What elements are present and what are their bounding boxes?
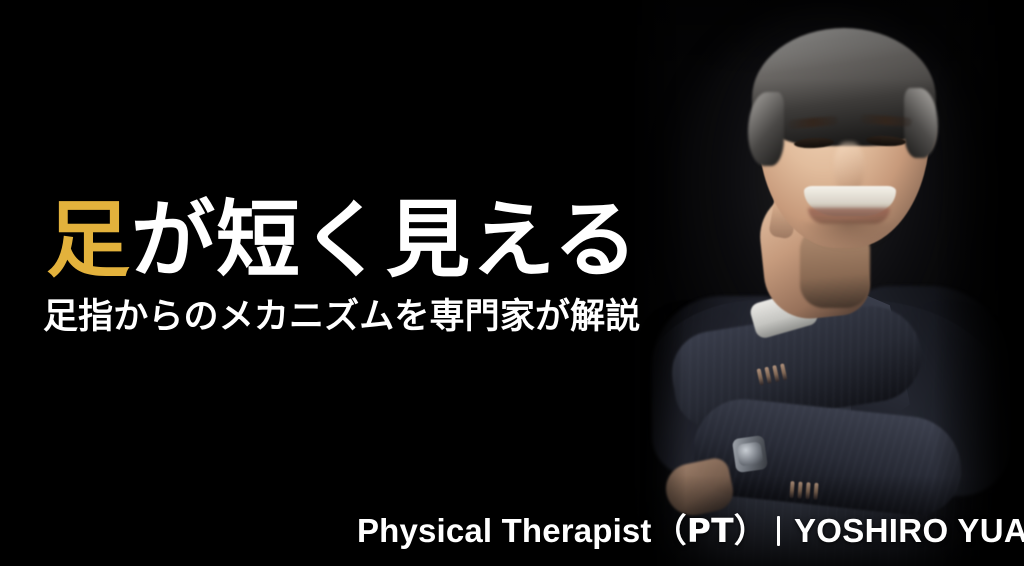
headline-accent-text: 足 [46, 191, 131, 289]
headline-rest-text: が短く見える [131, 191, 639, 289]
portrait-background [612, 0, 1024, 566]
sleeve-cuff-buttons-lower [789, 481, 818, 500]
credit-name: YOSHIRO YUASA [794, 512, 1024, 550]
chin-shadow [800, 222, 896, 250]
portrait-photo [612, 0, 1024, 566]
credit-role: Physical Therapist [357, 512, 652, 550]
headline: 足が短く見える [46, 198, 639, 282]
wristwatch-face [737, 441, 764, 466]
subheadline: 足指からのメカニズムを専門家が解説 [43, 300, 640, 335]
credit-abbreviation: （PT） [654, 504, 767, 552]
hair-sideburn-left [748, 92, 784, 166]
credit-line: Physical Therapist （PT） YOSHIRO YUASA [357, 504, 1024, 552]
thumbnail-canvas: 足が短く見える 足指からのメカニズムを専門家が解説 Physical Thera… [0, 0, 1024, 566]
credit-separator [777, 516, 780, 546]
